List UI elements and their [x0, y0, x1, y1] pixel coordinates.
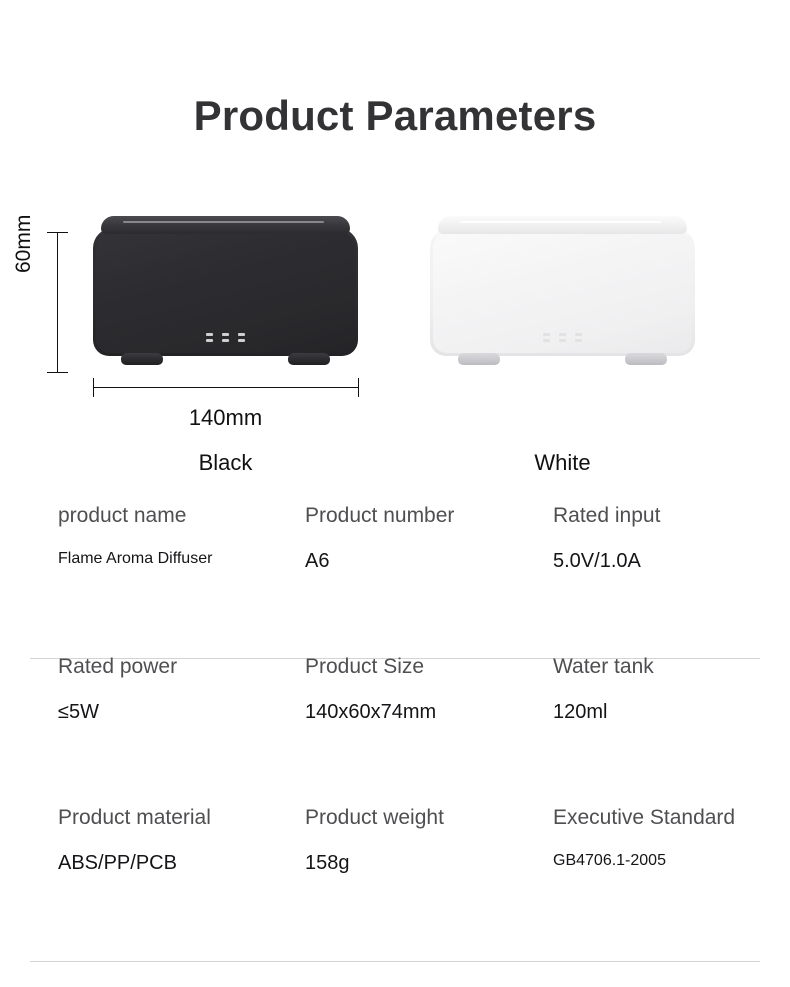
spec-cell-product-size: Product Size 140x60x74mm	[305, 656, 555, 722]
spec-cell-water-tank: Water tank 120ml	[553, 656, 790, 722]
table-row: Rated power ≤5W Product Size 140x60x74mm…	[0, 656, 790, 807]
spec-label: Rated power	[58, 656, 308, 677]
led-indicator-group	[93, 333, 358, 342]
height-dimension-line	[57, 232, 58, 372]
spec-label: Product weight	[305, 807, 555, 828]
led-indicator-icon	[543, 333, 550, 342]
device-top-surface	[438, 216, 687, 234]
spec-label: Executive Standard	[553, 807, 790, 828]
spec-value: ABS/PP/PCB	[58, 853, 308, 873]
led-indicator-icon	[559, 333, 566, 342]
led-indicator-icon	[206, 333, 213, 342]
device-body	[430, 228, 695, 356]
width-dimension-label: 140mm	[93, 405, 358, 431]
spec-value: Flame Aroma Diffuser	[58, 551, 308, 567]
spec-cell-product-number: Product number A6	[305, 505, 555, 571]
spec-cell-executive-standard: Executive Standard GB4706.1-2005	[553, 807, 790, 869]
led-indicator-group	[430, 333, 695, 342]
spec-value: 5.0V/1.0A	[553, 551, 790, 571]
led-indicator-icon	[238, 333, 245, 342]
device-top-highlight	[460, 221, 661, 223]
specifications-table: product name Flame Aroma Diffuser Produc…	[0, 505, 790, 958]
height-dimension-label: 60mm	[12, 245, 36, 273]
product-images-area: 60mm 140mm Black White	[0, 0, 790, 500]
color-label-black: Black	[93, 450, 358, 476]
spec-label: Rated input	[553, 505, 790, 526]
spec-value: GB4706.1-2005	[553, 853, 790, 869]
table-row: product name Flame Aroma Diffuser Produc…	[0, 505, 790, 656]
row-divider	[30, 961, 760, 962]
height-dimension-cap-bottom	[47, 372, 68, 373]
spec-value: 140x60x74mm	[305, 702, 555, 722]
table-row: Product material ABS/PP/PCB Product weig…	[0, 807, 790, 958]
spec-cell-product-material: Product material ABS/PP/PCB	[58, 807, 308, 873]
product-image-white	[430, 216, 695, 356]
color-label-white: White	[430, 450, 695, 476]
device-foot-right	[625, 353, 667, 365]
spec-value: A6	[305, 551, 555, 571]
spec-label: product name	[58, 505, 308, 526]
spec-label: Water tank	[553, 656, 790, 677]
spec-value: 158g	[305, 853, 555, 873]
width-dimension-cap-left	[93, 378, 94, 397]
width-dimension-cap-right	[358, 378, 359, 397]
spec-cell-rated-power: Rated power ≤5W	[58, 656, 308, 722]
product-image-black	[93, 216, 358, 356]
device-foot-left	[121, 353, 163, 365]
spec-label: Product number	[305, 505, 555, 526]
spec-label: Product Size	[305, 656, 555, 677]
spec-value: 120ml	[553, 702, 790, 722]
spec-cell-product-weight: Product weight 158g	[305, 807, 555, 873]
width-dimension-line	[93, 387, 358, 388]
device-top-highlight	[123, 221, 324, 223]
led-indicator-icon	[222, 333, 229, 342]
spec-label: Product material	[58, 807, 308, 828]
spec-cell-product-name: product name Flame Aroma Diffuser	[58, 505, 308, 567]
spec-cell-rated-input: Rated input 5.0V/1.0A	[553, 505, 790, 571]
led-indicator-icon	[575, 333, 582, 342]
device-body	[93, 228, 358, 356]
height-dimension-cap-top	[47, 232, 68, 233]
device-top-surface	[101, 216, 350, 234]
device-foot-right	[288, 353, 330, 365]
device-foot-left	[458, 353, 500, 365]
spec-value: ≤5W	[58, 702, 308, 722]
